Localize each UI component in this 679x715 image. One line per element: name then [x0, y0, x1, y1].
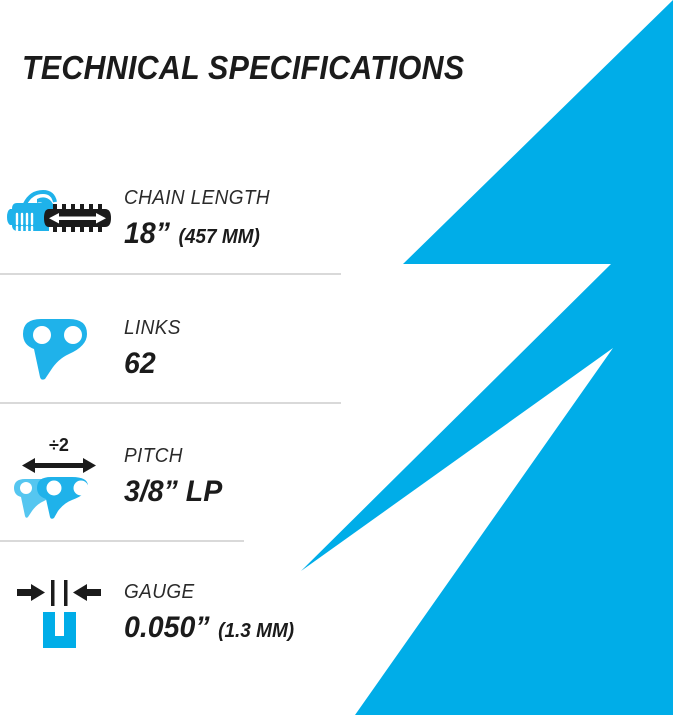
- spec-value: 18”: [124, 218, 170, 250]
- inward-arrows-icon: [17, 584, 101, 601]
- spec-value: 3/8” LP: [124, 476, 222, 508]
- chain-gauge-icon: [0, 564, 118, 660]
- spec-row-chain-length: CHAIN LENGTH 18” (457 MM): [0, 162, 345, 274]
- spec-value: 0.050”: [124, 612, 210, 644]
- pitch-divide-caption: ÷2: [49, 435, 69, 455]
- spec-label: PITCH: [124, 444, 222, 468]
- zigzag-shape: [301, 0, 673, 715]
- spec-label: GAUGE: [124, 580, 294, 604]
- spec-value-line: 0.050” (1.3 MM): [124, 612, 294, 644]
- spec-row-gauge: GAUGE 0.050” (1.3 MM): [0, 556, 345, 668]
- chain-gauge-icon-glyph: [9, 572, 109, 652]
- spec-value-sub: (457 MM): [179, 226, 260, 248]
- double-arrow-icon: [22, 458, 96, 473]
- gauge-tick-marks: [51, 580, 68, 606]
- row-divider: [0, 402, 341, 404]
- chain-drive-link-icon-glyph: [21, 315, 97, 381]
- spec-value-line: 62: [124, 348, 181, 380]
- spec-value-line: 18” (457 MM): [124, 218, 270, 250]
- chainsaw-icon: [0, 170, 118, 266]
- spec-text-chain-length: CHAIN LENGTH 18” (457 MM): [118, 186, 278, 250]
- chain-pitch-icon-glyph: ÷2: [9, 433, 109, 519]
- chain-pitch-icon: ÷2: [0, 428, 118, 524]
- spec-row-links: LINKS 62: [0, 292, 345, 404]
- spec-value: 62: [124, 348, 156, 380]
- spec-value-sub: (1.3 MM): [218, 620, 294, 642]
- spec-text-gauge: GAUGE 0.050” (1.3 MM): [118, 580, 303, 644]
- spec-value-line: 3/8” LP: [124, 476, 222, 508]
- spec-text-pitch: PITCH 3/8” LP: [118, 444, 227, 508]
- row-divider: [0, 273, 341, 275]
- row-divider: [0, 540, 244, 542]
- spec-row-pitch: ÷2 PITCH 3/8” LP: [0, 420, 345, 532]
- spec-label: CHAIN LENGTH: [124, 186, 270, 210]
- spec-label: LINKS: [124, 316, 181, 340]
- chainsaw-icon-glyph: [7, 187, 111, 249]
- spec-text-links: LINKS 62: [118, 316, 184, 380]
- page-title: TECHNICAL SPECIFICATIONS: [22, 48, 464, 88]
- technical-specifications-panel: TECHNICAL SPECIFICATIONS: [0, 0, 679, 715]
- chain-drive-link-icon: [0, 300, 118, 396]
